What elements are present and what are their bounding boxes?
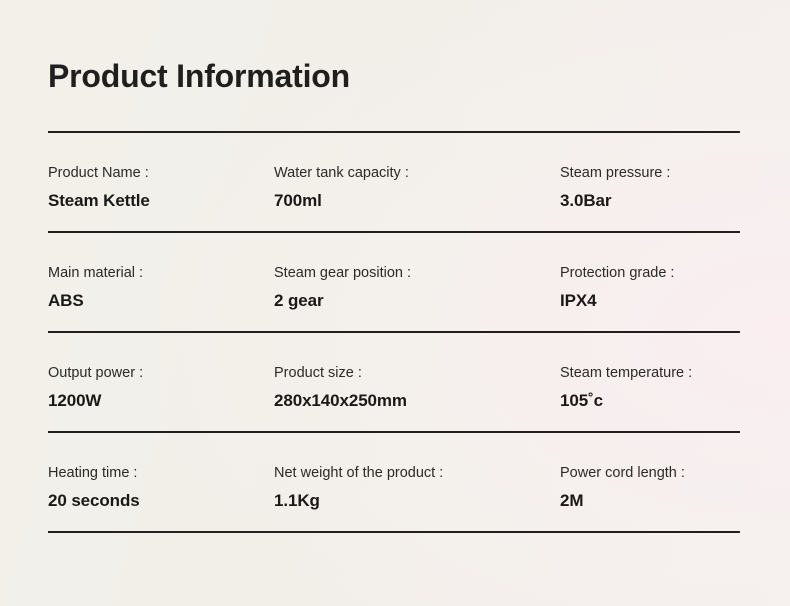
spec-label: Protection grade :	[560, 265, 740, 282]
spec-label: Steam pressure :	[560, 165, 740, 182]
spec-label: Steam gear position :	[274, 265, 560, 282]
spec-value: 280x140x250mm	[274, 391, 560, 411]
spec-label: Product size :	[274, 365, 560, 382]
spec-label: Output power :	[48, 365, 274, 382]
spec-cell-output-power: Output power : 1200W	[48, 333, 274, 431]
spec-cell-net-weight: Net weight of the product : 1.1Kg	[274, 433, 560, 531]
table-row: Product Name : Steam Kettle Water tank c…	[48, 133, 740, 233]
product-information-sheet: Product Information Product Name : Steam…	[0, 0, 790, 606]
spec-value: 2M	[560, 491, 740, 511]
spec-cell-product-name: Product Name : Steam Kettle	[48, 133, 274, 231]
spec-cell-product-size: Product size : 280x140x250mm	[274, 333, 560, 431]
spec-label: Heating time :	[48, 465, 274, 482]
spec-cell-steam-pressure: Steam pressure : 3.0Bar	[560, 133, 740, 231]
spec-value: ABS	[48, 291, 274, 311]
spec-cell-steam-temperature: Steam temperature : 105˚c	[560, 333, 740, 431]
spec-cell-protection-grade: Protection grade : IPX4	[560, 233, 740, 331]
spec-cell-power-cord-length: Power cord length : 2M	[560, 433, 740, 531]
spec-value: IPX4	[560, 291, 740, 311]
spec-label: Steam temperature :	[560, 365, 740, 382]
specification-table: Product Name : Steam Kettle Water tank c…	[48, 131, 740, 533]
spec-value: 1200W	[48, 391, 274, 411]
spec-cell-steam-gear-position: Steam gear position : 2 gear	[274, 233, 560, 331]
spec-value: 700ml	[274, 191, 560, 211]
spec-label: Net weight of the product :	[274, 465, 560, 482]
spec-value: 2 gear	[274, 291, 560, 311]
table-row: Output power : 1200W Product size : 280x…	[48, 333, 740, 433]
spec-label: Power cord length :	[560, 465, 740, 482]
page-title: Product Information	[48, 0, 740, 95]
spec-value: 1.1Kg	[274, 491, 560, 511]
spec-cell-heating-time: Heating time : 20 seconds	[48, 433, 274, 531]
spec-label: Product Name :	[48, 165, 274, 182]
spec-value: 105˚c	[560, 391, 740, 411]
spec-label: Main material :	[48, 265, 274, 282]
table-row: Heating time : 20 seconds Net weight of …	[48, 433, 740, 533]
table-row: Main material : ABS Steam gear position …	[48, 233, 740, 333]
spec-cell-water-tank-capacity: Water tank capacity : 700ml	[274, 133, 560, 231]
spec-label: Water tank capacity :	[274, 165, 560, 182]
spec-cell-main-material: Main material : ABS	[48, 233, 274, 331]
spec-value: 3.0Bar	[560, 191, 740, 211]
spec-value: 20 seconds	[48, 491, 274, 511]
spec-value: Steam Kettle	[48, 191, 274, 211]
sheet-content: Product Information Product Name : Steam…	[48, 0, 740, 533]
